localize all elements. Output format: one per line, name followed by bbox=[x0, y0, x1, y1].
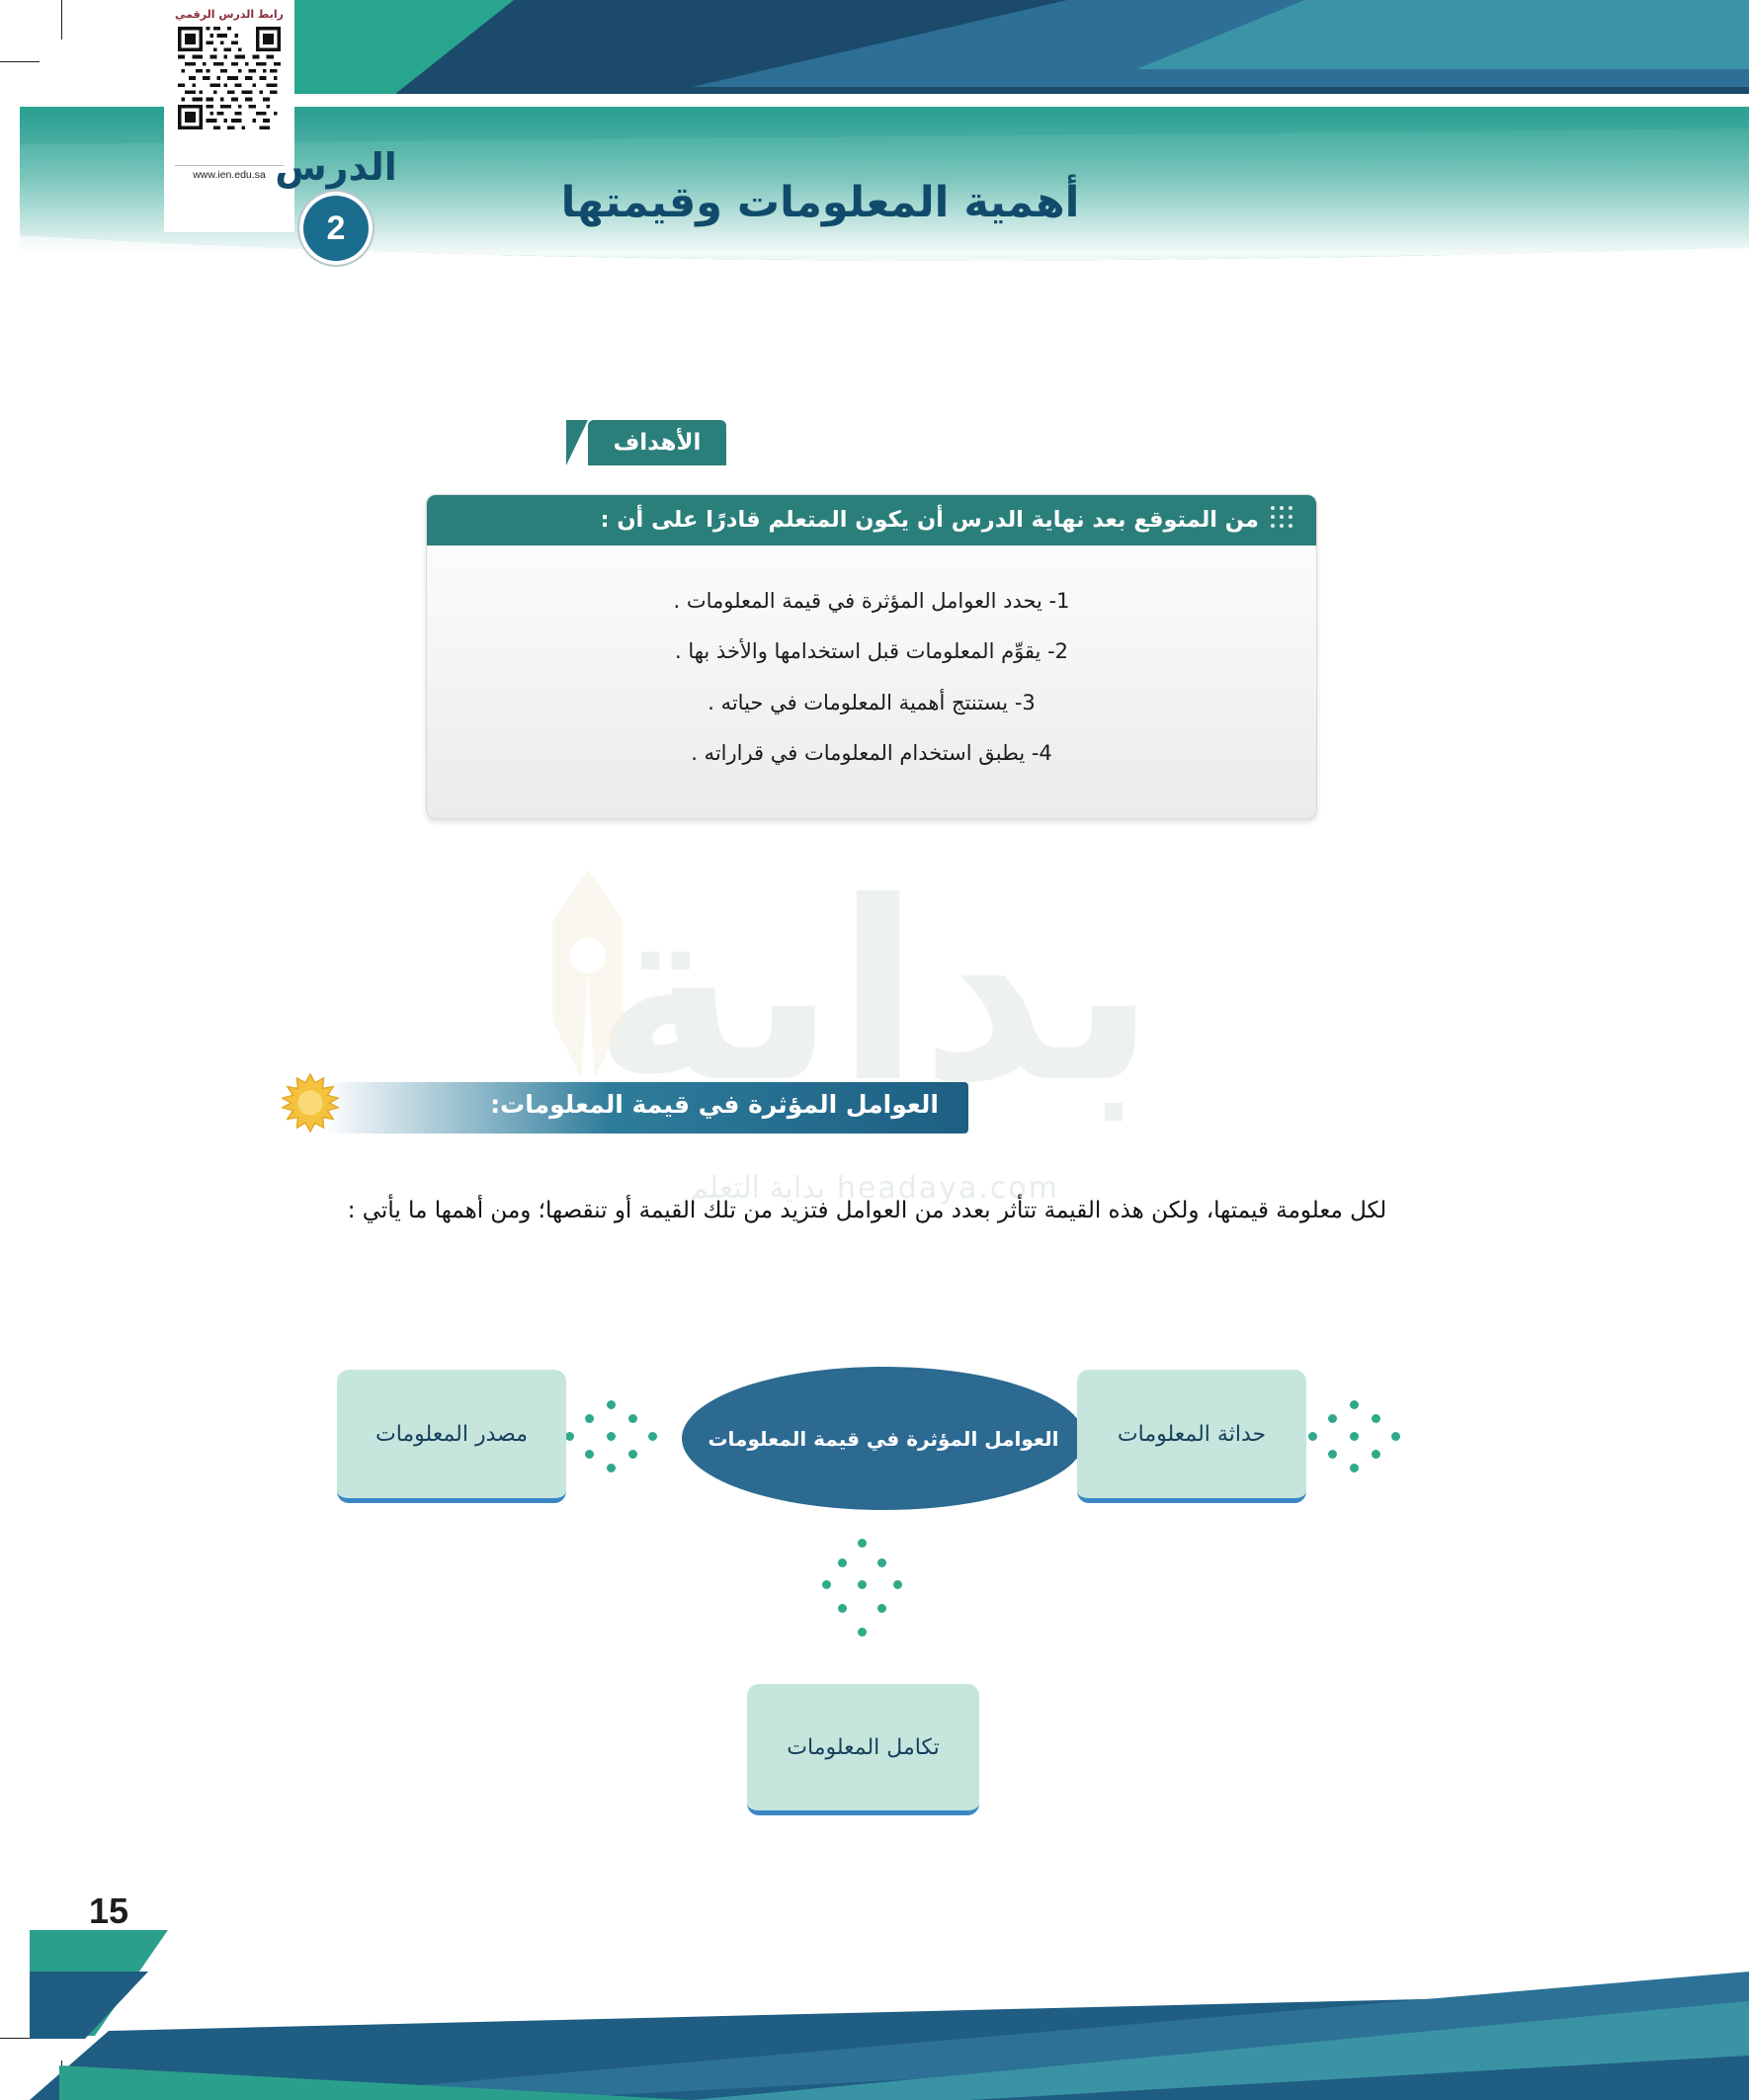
diagram-node-integration: تكامل المعلومات bbox=[747, 1684, 979, 1815]
page-number: 15 bbox=[89, 1890, 128, 1932]
objectives-intro: من المتوقع بعد نهاية الدرس أن يكون المتع… bbox=[601, 507, 1259, 533]
objectives-list: 1- يحدد العوامل المؤثرة في قيمة المعلوما… bbox=[427, 561, 1316, 802]
objective-item: 3- يستنتج أهمية المعلومات في حياته . bbox=[466, 689, 1277, 717]
objectives-box: من المتوقع بعد نهاية الدرس أن يكون المتع… bbox=[426, 494, 1317, 819]
objectives-tab: الأهداف bbox=[588, 420, 726, 465]
lesson-title: أهمية المعلومات وقيمتها bbox=[445, 178, 1196, 227]
dots-grid-icon bbox=[1271, 506, 1302, 536]
footer-banner bbox=[0, 1853, 1749, 2100]
lesson-word: الدرس bbox=[237, 148, 435, 186]
objectives-header: من المتوقع بعد نهاية الدرس أن يكون المتع… bbox=[427, 495, 1316, 546]
connector-dots-right bbox=[1306, 1398, 1415, 1477]
diagram-node-source: مصدر المعلومات bbox=[337, 1370, 566, 1503]
lesson-number: 2 bbox=[303, 196, 369, 261]
section-paragraph: لكل معلومة قيمتها، ولكن هذه القيمة تتأثر… bbox=[267, 1191, 1467, 1230]
connector-dots-bottom bbox=[820, 1537, 909, 1650]
qr-code-icon bbox=[178, 27, 281, 129]
diagram-center-node: العوامل المؤثرة في قيمة المعلومات bbox=[682, 1367, 1085, 1510]
qr-caption: رابط الدرس الرقمي bbox=[164, 8, 294, 21]
objective-item: 4- يطبق استخدام المعلومات في قراراته . bbox=[466, 739, 1277, 768]
lesson-badge: الدرس 2 bbox=[237, 148, 435, 261]
star-burst-icon bbox=[280, 1072, 341, 1134]
diagram-node-recency: حداثة المعلومات bbox=[1077, 1370, 1306, 1503]
watermark-text: بداية bbox=[0, 870, 1749, 1117]
section-heading: العوامل المؤثرة في قيمة المعلومات: bbox=[346, 1090, 939, 1119]
pen-nib-watermark-icon bbox=[524, 870, 652, 1097]
objective-item: 2- يقوِّم المعلومات قبل استخدامها والأخذ… bbox=[466, 637, 1277, 666]
objective-item: 1- يحدد العوامل المؤثرة في قيمة المعلوما… bbox=[466, 587, 1277, 616]
connector-dots-left bbox=[563, 1398, 672, 1477]
